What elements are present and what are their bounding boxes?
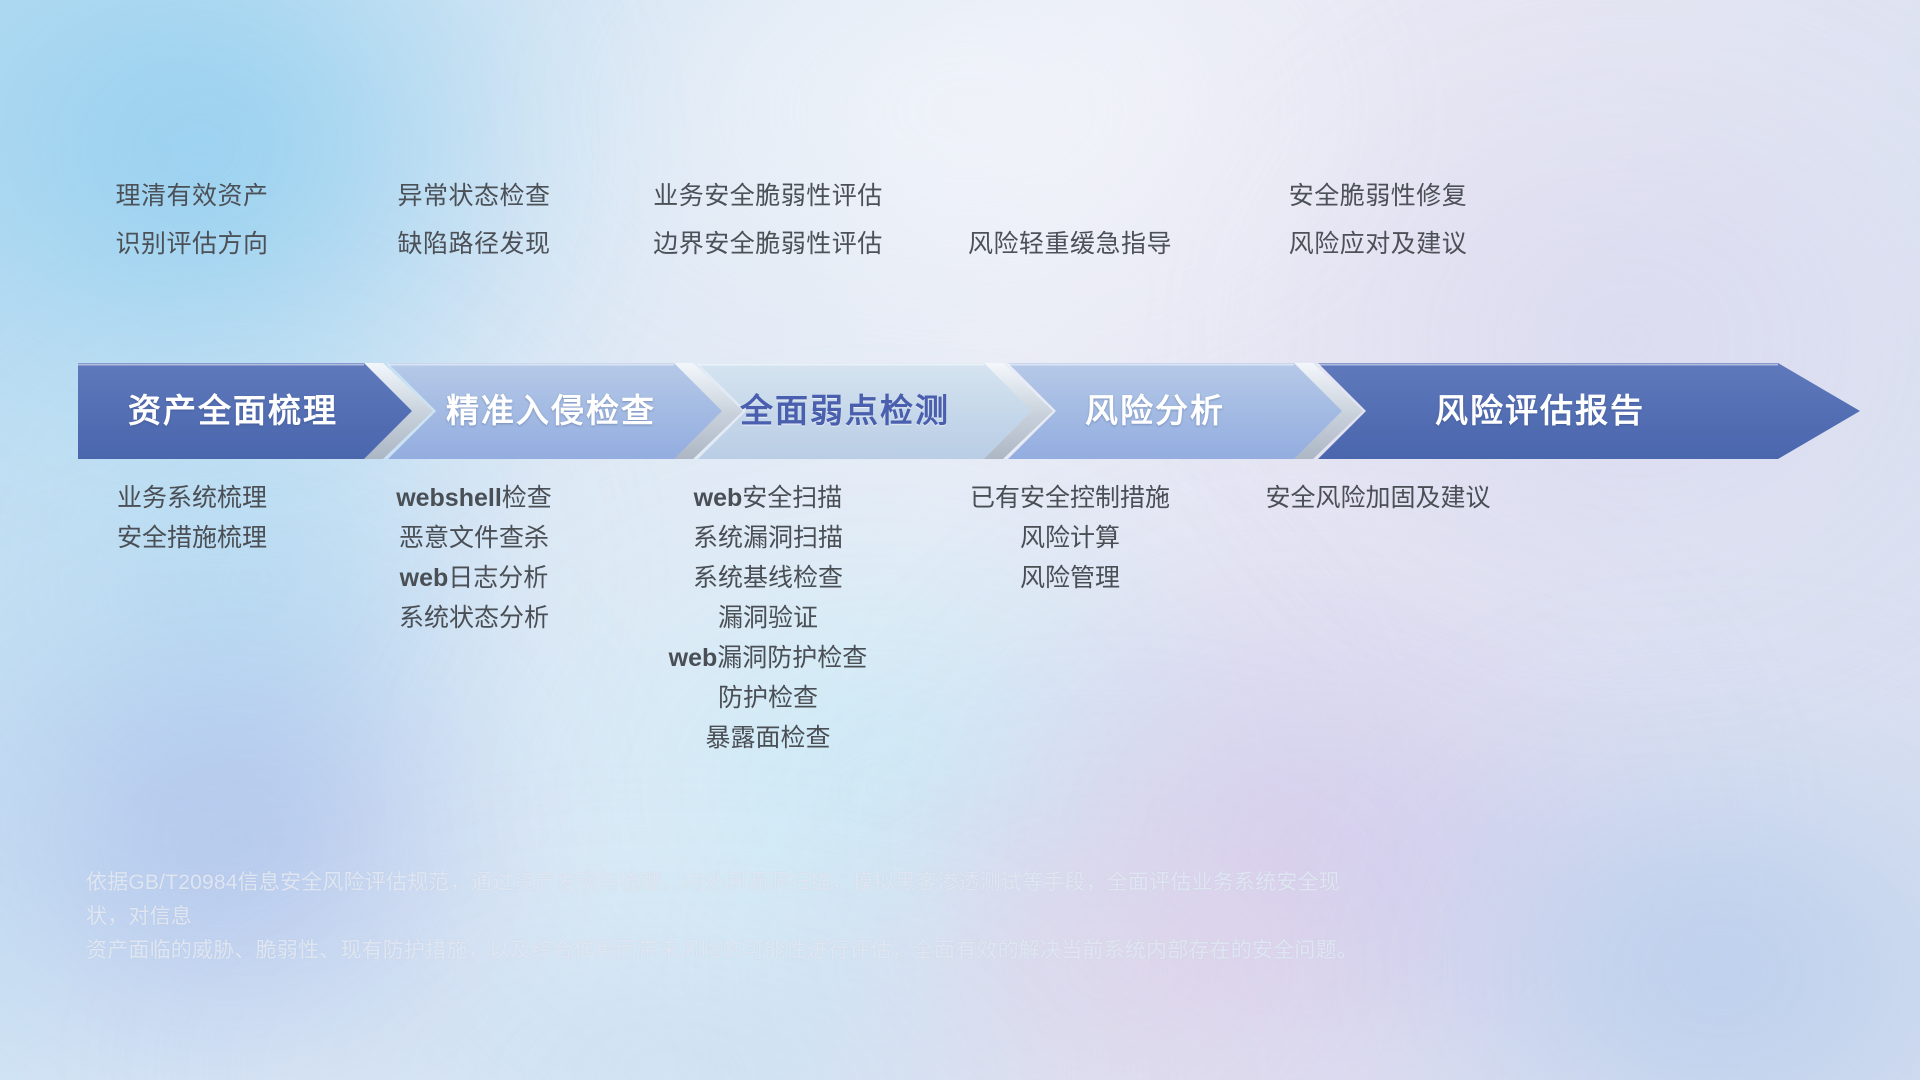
bottom-annotation-text: 风险管理 xyxy=(1020,564,1120,592)
bottom-annotation-line: 风险计算 xyxy=(770,518,1370,558)
chevron-risk-report xyxy=(1318,363,1860,459)
chevron-weakness-detection xyxy=(698,363,1032,459)
chevron-bodies xyxy=(78,363,1860,459)
chevron-asset-review xyxy=(78,363,412,459)
top-annotation-risk-report: 安全脆弱性修复风险应对及建议 xyxy=(1078,172,1678,268)
bottom-annotation-line: web漏洞防护检查 xyxy=(468,638,1068,678)
bottom-annotation-text: 漏洞防护检查 xyxy=(717,644,867,672)
bottom-annotation-line: 风险管理 xyxy=(770,558,1370,598)
top-annotation-line: 业务安全脆弱性评估 xyxy=(468,172,1068,220)
bottom-annotation-line: 安全风险加固及建议 xyxy=(1078,478,1678,518)
bottom-annotation-prefix: web xyxy=(669,644,718,672)
bottom-annotation-prefix: web xyxy=(400,564,449,592)
stage-banner-shapes xyxy=(78,363,1860,459)
chevron-intrusion-check xyxy=(388,363,722,459)
stage-banner: 资产全面梳理精准入侵检查全面弱点检测风险分析风险评估报告 xyxy=(78,363,1860,459)
top-annotation-line: 风险应对及建议 xyxy=(1078,220,1678,268)
footer-line-2: 资产面临的威胁、脆弱性、现有防护措施，以及综合作用而带来风险的可能性进行评估，全… xyxy=(86,934,1376,968)
footer-description: 依据GB/T20984信息安全风险评估规范，通过资产发现与梳理，内外网漏洞扫描，… xyxy=(86,866,1376,968)
bottom-annotation-text: 风险计算 xyxy=(1020,524,1120,552)
bottom-annotation-text: 安全风险加固及建议 xyxy=(1265,484,1490,512)
bottom-annotation-line: 暴露面检查 xyxy=(468,718,1068,758)
bottom-annotation-line: 漏洞验证 xyxy=(468,598,1068,638)
bottom-annotation-prefix: web xyxy=(694,484,743,512)
bottom-annotation-text: 防护检查 xyxy=(718,684,818,712)
process-diagram: 理清有效资产识别评估方向异常状态检查缺陷路径发现业务安全脆弱性评估边界安全脆弱性… xyxy=(0,0,1920,1080)
chevron-risk-analysis xyxy=(1008,363,1342,459)
bottom-annotation-line: 防护检查 xyxy=(468,678,1068,718)
bottom-annotation-text: 漏洞验证 xyxy=(718,604,818,632)
top-annotation-line: 安全脆弱性修复 xyxy=(1078,172,1678,220)
bottom-annotation-risk-report: 安全风险加固及建议 xyxy=(1078,478,1678,518)
footer-line-1: 依据GB/T20984信息安全风险评估规范，通过资产发现与梳理，内外网漏洞扫描，… xyxy=(86,866,1376,934)
bottom-annotation-text: 暴露面检查 xyxy=(705,724,830,752)
